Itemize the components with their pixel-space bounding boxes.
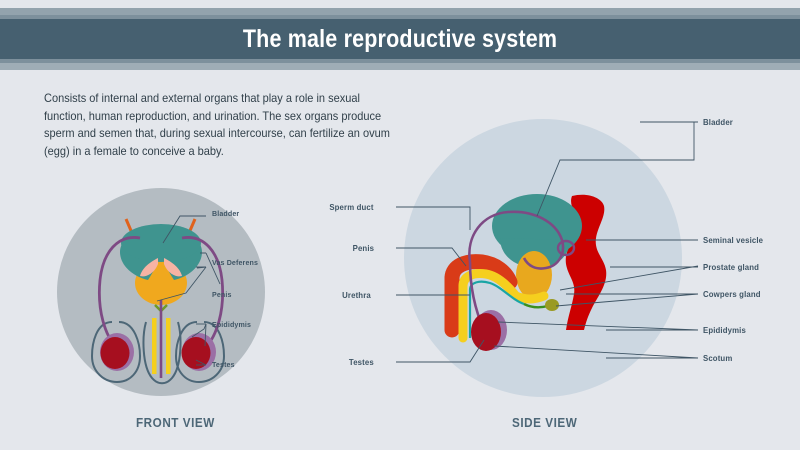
side-view-anatomy	[396, 122, 698, 362]
cowpers-gland-side-shape	[545, 299, 559, 311]
urethra-right-stripe	[166, 318, 171, 374]
cowpers-duct-line	[524, 304, 548, 307]
front-label-penis: Penis	[212, 290, 232, 299]
anatomy-artwork	[0, 0, 800, 450]
front-view-anatomy	[92, 216, 224, 383]
bladder-dome	[121, 224, 201, 262]
side-label-cowpers-gland: Cowpers gland	[703, 289, 761, 299]
side-label-bladder: Bladder	[703, 117, 733, 127]
side-label-scotum: Scotum	[703, 353, 732, 363]
side-label-sperm-duct: Sperm duct	[329, 202, 373, 212]
side-label-seminal-vesicle: Seminal vesicle	[703, 235, 763, 245]
urethra-left-stripe	[152, 318, 157, 374]
prostate-side-shape	[516, 251, 552, 299]
testis-side-shape	[471, 313, 501, 351]
side-label-epididymis: Epididymis	[703, 325, 746, 335]
front-label-testes: Testes	[212, 360, 235, 369]
side-view-caption: SIDE VIEW	[512, 415, 577, 430]
side-label-prostate-gland: Prostate gland	[703, 262, 759, 272]
front-view-caption: FRONT VIEW	[136, 415, 215, 430]
front-label-vas-deferens: Vas Deferens	[212, 258, 258, 267]
front-label-bladder: Bladder	[212, 209, 239, 218]
testis-right-shape	[182, 337, 211, 369]
side-label-urethra: Urethra	[342, 290, 371, 300]
slide-canvas: The male reproductive system Consists of…	[0, 0, 800, 450]
front-label-epididymis: Epididymis	[212, 320, 251, 329]
testis-left-shape	[101, 337, 130, 369]
side-label-testes: Testes	[349, 357, 374, 367]
urethra-prostatic-shape	[516, 296, 544, 299]
side-label-penis: Penis	[353, 243, 374, 253]
